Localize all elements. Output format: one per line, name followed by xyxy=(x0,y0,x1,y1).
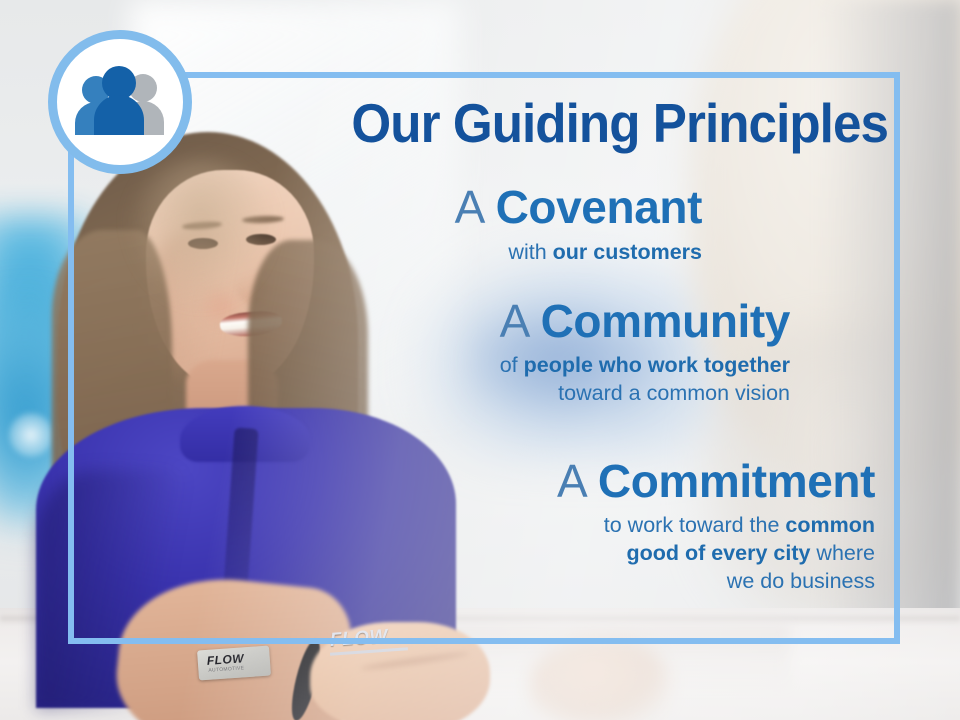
group-badge xyxy=(48,30,192,174)
employee-figure: FLOW AUTOMOTIVE FLOW xyxy=(30,110,460,670)
blue-vehicle-blur-core xyxy=(470,300,670,420)
polo-chest-logo: FLOW xyxy=(329,626,388,652)
guiding-principles-banner: FLOW AUTOMOTIVE FLOW Our Guiding Princip… xyxy=(0,0,960,720)
customer-hand xyxy=(530,640,670,720)
hair-highlight xyxy=(126,158,276,308)
employee-name-badge: FLOW AUTOMOTIVE xyxy=(197,646,271,681)
group-of-people-icon xyxy=(68,65,172,139)
name-badge-subtext: AUTOMOTIVE xyxy=(208,665,244,673)
